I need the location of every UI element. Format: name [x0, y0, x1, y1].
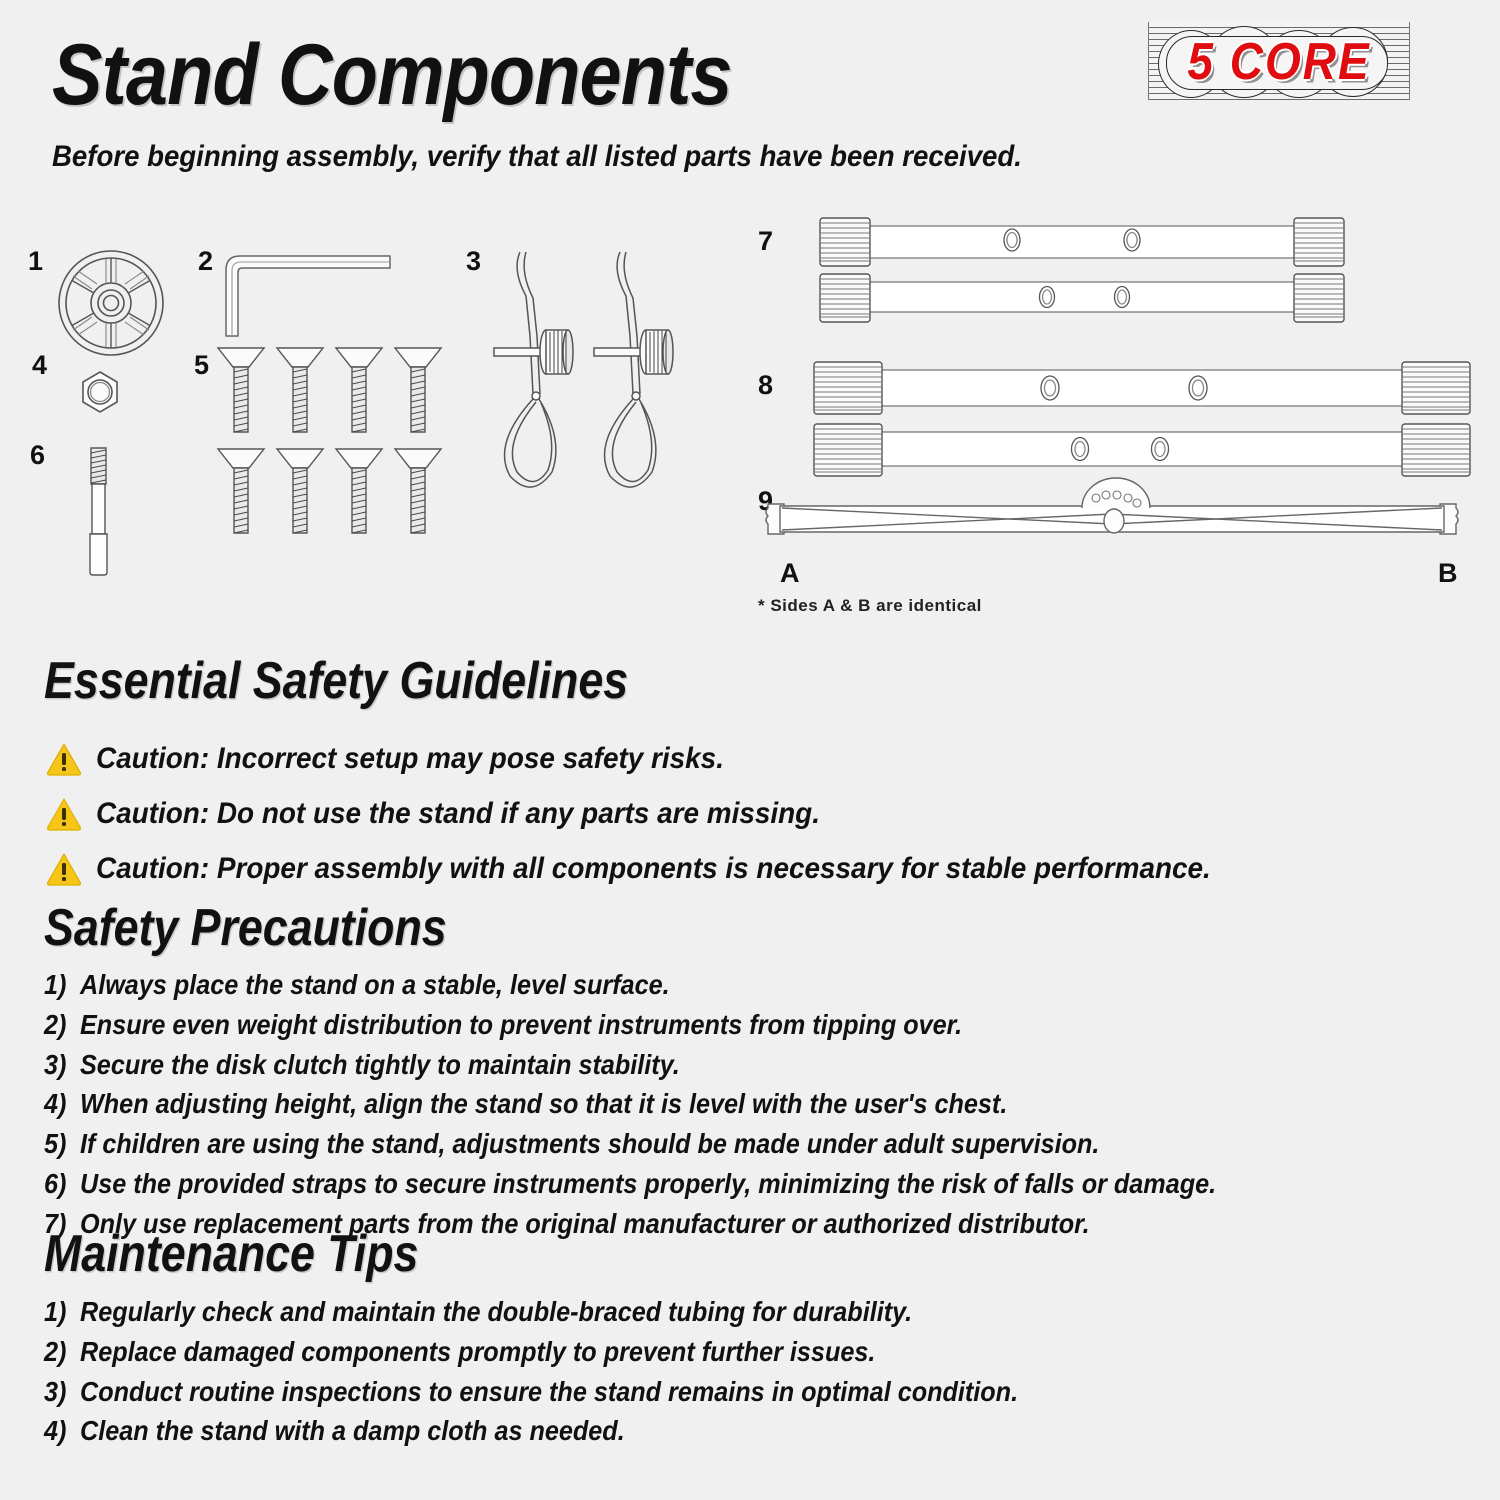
list-item-text: Clean the stand with a damp cloth as nee…	[80, 1415, 625, 1446]
countersunk-screw-icon	[218, 348, 448, 544]
list-item-number: 6)	[44, 1164, 80, 1204]
list-item-text: Always place the stand on a stable, leve…	[80, 969, 670, 1000]
list-item: 2)Ensure even weight distribution to pre…	[44, 1005, 1216, 1045]
part-number-3: 3	[466, 248, 481, 275]
list-item: 3)Secure the disk clutch tightly to main…	[44, 1045, 1216, 1085]
hex-key-icon	[222, 248, 402, 338]
safety-guidelines-heading: Essential Safety Guidelines	[44, 655, 628, 707]
threaded-bolt-icon	[84, 446, 116, 576]
list-item-text: If children are using the stand, adjustm…	[80, 1128, 1099, 1159]
sides-identical-note: * Sides A & B are identical	[758, 596, 982, 616]
list-item-text: Regularly check and maintain the double-…	[80, 1296, 912, 1327]
list-item-number: 2)	[44, 1005, 80, 1045]
part-number-4: 4	[32, 352, 47, 379]
list-item-number: 5)	[44, 1124, 80, 1164]
page-title: Stand Components	[52, 32, 732, 118]
parts-diagram: 1 2 3 4 5 6 7 8 9 A B * Sides A & B are …	[0, 200, 1500, 630]
warning-triangle-icon	[46, 742, 82, 776]
brand-logo: 5 CORE	[1148, 22, 1410, 100]
list-item-text: Replace damaged components promptly to p…	[80, 1336, 875, 1367]
part-number-5: 5	[194, 352, 209, 379]
logo-text: 5 CORE	[1148, 17, 1410, 104]
list-item-number: 4)	[44, 1411, 80, 1451]
warning-triangle-icon	[46, 852, 82, 886]
caution-row-1: Caution: Incorrect setup may pose safety…	[46, 742, 771, 776]
caution-text-2: Caution: Do not use the stand if any par…	[96, 797, 820, 831]
part-number-2: 2	[198, 248, 213, 275]
warning-triangle-icon	[46, 797, 82, 831]
long-tube-icon	[812, 362, 1472, 482]
folding-leg-icon	[762, 486, 1462, 558]
list-item-number: 3)	[44, 1372, 80, 1412]
caution-text-3: Caution: Proper assembly with all compon…	[96, 852, 1211, 886]
page-subtitle: Before beginning assembly, verify that a…	[52, 140, 1022, 174]
list-item-text: Secure the disk clutch tightly to mainta…	[80, 1049, 680, 1080]
list-item-number: 4)	[44, 1084, 80, 1124]
list-item: 4)When adjusting height, align the stand…	[44, 1084, 1216, 1124]
short-tube-icon	[812, 218, 1352, 338]
list-item: 4)Clean the stand with a damp cloth as n…	[44, 1411, 1018, 1451]
maintenance-tips-heading: Maintenance Tips	[44, 1228, 418, 1280]
caution-row-3: Caution: Proper assembly with all compon…	[46, 852, 1295, 886]
list-item: 2)Replace damaged components promptly to…	[44, 1332, 1018, 1372]
part-number-6: 6	[30, 442, 45, 469]
part-number-7: 7	[758, 228, 773, 255]
list-item: 5)If children are using the stand, adjus…	[44, 1124, 1216, 1164]
safety-precautions-heading: Safety Precautions	[44, 902, 447, 954]
maintenance-tips-list: 1)Regularly check and maintain the doubl…	[44, 1292, 1126, 1451]
manual-page: Stand Components Before beginning assemb…	[0, 0, 1500, 1500]
list-item-text: Use the provided straps to secure instru…	[80, 1168, 1216, 1199]
list-item: 1)Regularly check and maintain the doubl…	[44, 1292, 1018, 1332]
list-item-number: 2)	[44, 1332, 80, 1372]
hand-wheel-icon	[56, 248, 166, 358]
side-label-a: A	[780, 558, 800, 589]
side-label-b: B	[1438, 558, 1458, 589]
list-item-text: Ensure even weight distribution to preve…	[80, 1009, 962, 1040]
list-item: 6)Use the provided straps to secure inst…	[44, 1164, 1216, 1204]
list-item: 3)Conduct routine inspections to ensure …	[44, 1372, 1018, 1412]
part-number-1: 1	[28, 248, 43, 275]
hex-nut-icon	[76, 368, 124, 416]
list-item-number: 3)	[44, 1045, 80, 1085]
list-item-text: Conduct routine inspections to ensure th…	[80, 1376, 1018, 1407]
caution-text-1: Caution: Incorrect setup may pose safety…	[96, 742, 724, 776]
list-item: 1)Always place the stand on a stable, le…	[44, 965, 1216, 1005]
list-item-number: 1)	[44, 965, 80, 1005]
strap-clamp-icon	[486, 244, 696, 494]
list-item-number: 1)	[44, 1292, 80, 1332]
caution-row-2: Caution: Do not use the stand if any par…	[46, 797, 874, 831]
safety-precautions-list: 1)Always place the stand on a stable, le…	[44, 965, 1346, 1243]
part-number-8: 8	[758, 372, 773, 399]
list-item-text: When adjusting height, align the stand s…	[80, 1088, 1007, 1119]
